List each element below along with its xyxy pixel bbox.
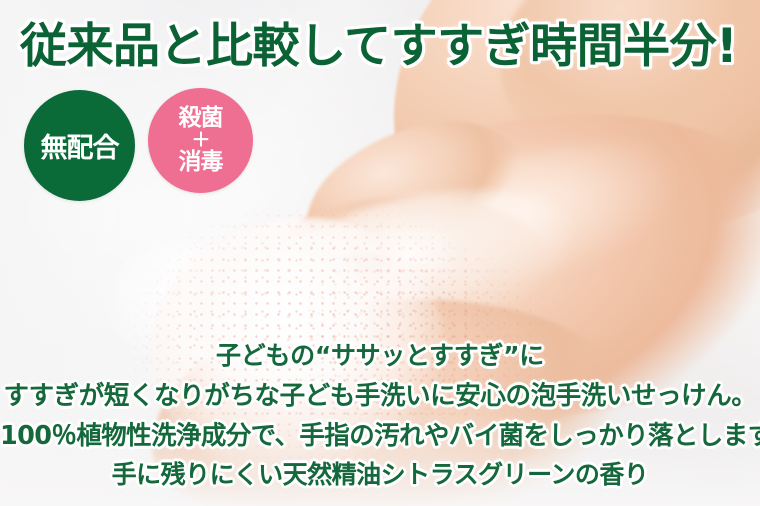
caption-line-4: 手に残りにくい天然精油シトラスグリーンの香り (0, 455, 760, 491)
badge-sterilize-label: 殺菌 (179, 106, 223, 131)
badge-disinfect-label: 消毒 (179, 150, 223, 175)
promotional-banner: 従来品と比較してすすぎ時間半分! 無配合 殺菌 ＋ 消毒 子どもの“ササッとすす… (0, 0, 760, 506)
caption-line-3: 100％植物性洗浄成分で、手指の汚れやバイ菌をしっかり落とします。 (0, 415, 760, 452)
caption-line-1: 子どもの“ササッとすすぎ”に (0, 336, 760, 372)
page-title: 従来品と比較してすすぎ時間半分! (20, 18, 738, 76)
badge-sterilize-disinfect: 殺菌 ＋ 消毒 (148, 88, 253, 193)
caption-line-2: すすぎが短くなりがちな子ども手洗いに安心の泡手洗いせっけん。 (0, 375, 760, 412)
badge-free-of-additives: 無配合 (24, 90, 135, 201)
badge-free-of-additives-label: 無配合 (41, 126, 119, 165)
plus-icon: ＋ (191, 131, 209, 150)
